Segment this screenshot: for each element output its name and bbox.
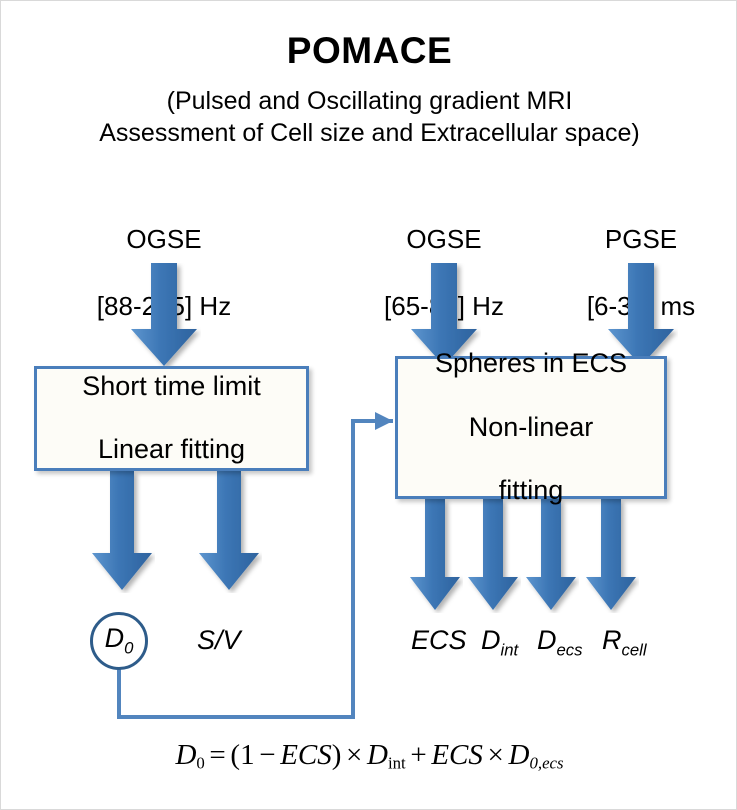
box-spheres-in-ecs-text: Spheres in ECS Non-linear fitting [435,316,627,539]
box-line-2: Linear fitting [82,434,261,466]
box-short-time-limit-text: Short time limit Linear fitting [82,339,261,498]
output-d0: D0 [90,612,148,670]
box-line-1: Short time limit [82,371,261,403]
box-short-time-limit[interactable]: Short time limit Linear fitting [34,366,309,471]
box-line-2: Non-linear [435,412,627,444]
feedback-arrowhead [375,412,393,430]
diagram-canvas: POMACE (Pulsed and Oscillating gradient … [0,0,737,810]
box-line-3: fitting [435,475,627,507]
box-spheres-in-ecs[interactable]: Spheres in ECS Non-linear fitting [395,356,667,499]
output-d0-label: D0 [105,623,134,658]
box-line-1: Spheres in ECS [435,348,627,380]
